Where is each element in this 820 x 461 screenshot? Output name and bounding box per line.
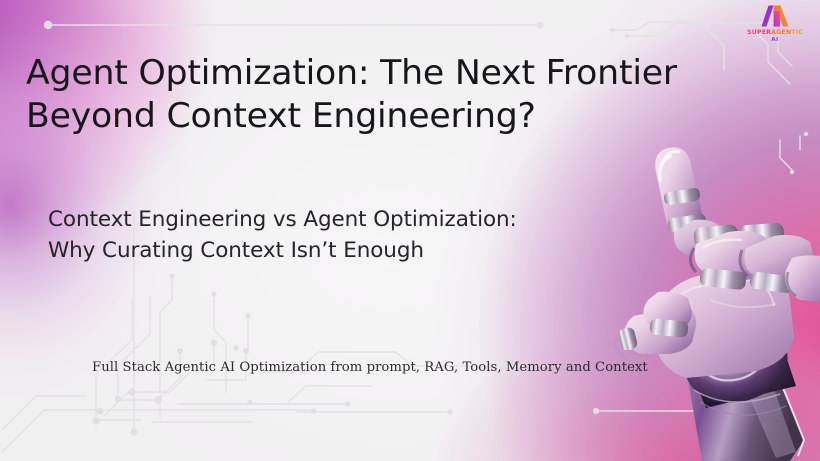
brand-logo[interactable]: SUPERAGENTIC AI bbox=[738, 4, 812, 43]
slide-subtitle: Context Engineering vs Agent Optimizatio… bbox=[48, 205, 648, 267]
brand-sub-label: AI bbox=[738, 38, 812, 44]
robotic-hand-pointing-up-icon bbox=[590, 140, 820, 461]
wordmark-super: SUPER bbox=[747, 29, 771, 36]
brand-wordmark: SUPERAGENTIC bbox=[738, 30, 812, 36]
presentation-slide: Agent Optimization: The Next Frontier Be… bbox=[0, 0, 820, 461]
slide-headline: Agent Optimization: The Next Frontier Be… bbox=[26, 52, 811, 138]
wordmark-tic: TIC bbox=[791, 29, 803, 36]
wordmark-agen: AGEN bbox=[771, 29, 791, 36]
superagentic-logo-mark-icon bbox=[760, 4, 790, 28]
slide-caption: Full Stack Agentic AI Optimization from … bbox=[92, 360, 648, 375]
